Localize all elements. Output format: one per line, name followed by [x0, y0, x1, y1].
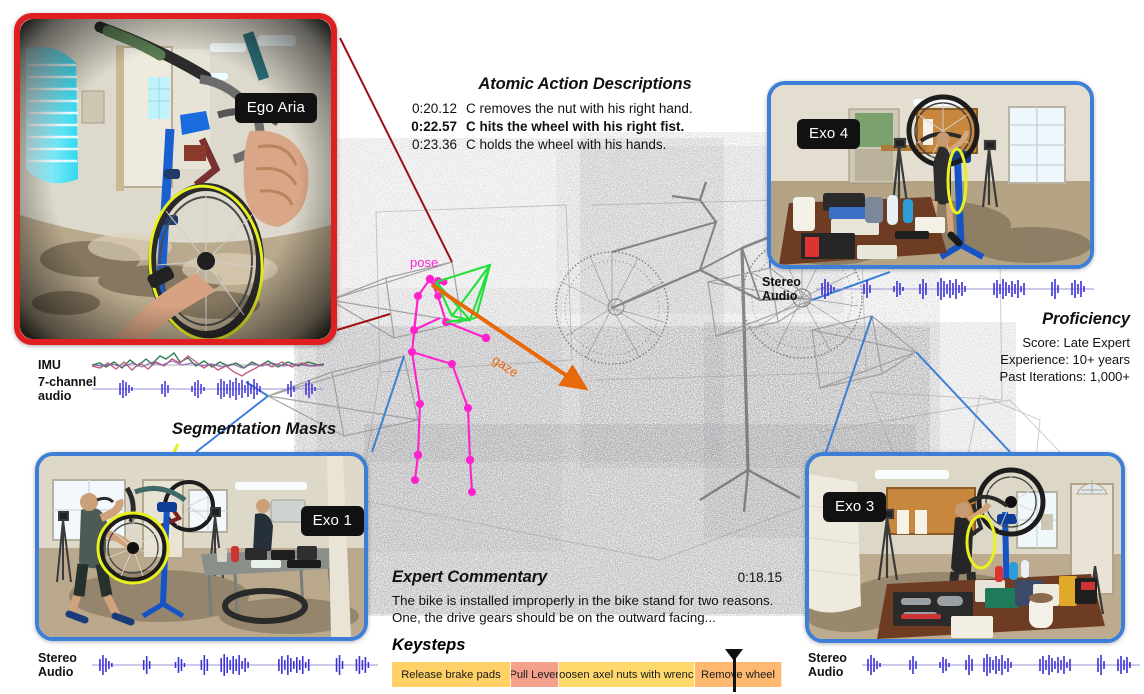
exo1-stereo-waveform — [92, 650, 378, 680]
imu-label: IMU — [38, 358, 92, 372]
atomic-action-text: C removes the nut with his right hand. — [466, 100, 693, 118]
proficiency-iterations: Past Iterations: 1,000+ — [1000, 368, 1130, 385]
camera-badge-ego-aria: Ego Aria — [235, 93, 317, 123]
expert-commentary-timestamp: 0:18.15 — [738, 570, 782, 585]
exo3-video-panel[interactable]: Exo 3 — [805, 452, 1125, 643]
atomic-action-time: 0:20.12 — [405, 100, 457, 118]
exo3-stereo-waveform — [862, 650, 1140, 680]
camera-badge-exo1: Exo 1 — [301, 506, 364, 536]
proficiency-title: Proficiency — [1000, 310, 1130, 329]
exo3-scene — [809, 456, 1121, 639]
exo3-frame — [809, 456, 1121, 639]
exo1-stereo-audio-row: Stereo Audio — [38, 648, 378, 682]
keysteps-timeline[interactable]: Release brake padsPull LeverLoosen axel … — [392, 662, 782, 687]
keystep-segment[interactable]: Pull Lever — [511, 662, 559, 687]
proficiency-score: Score: Late Expert — [1000, 334, 1130, 351]
stereo-audio-label-line2: Audio — [38, 665, 92, 679]
exo1-frame — [39, 456, 364, 637]
keysteps-playhead[interactable] — [733, 651, 736, 692]
camera-badge-exo3: Exo 3 — [823, 492, 886, 522]
stereo-audio-label-line2: Audio — [808, 665, 862, 679]
exo4-stereo-audio-row: Stereo Audio — [762, 272, 1102, 306]
proficiency-block: Proficiency Score: Late Expert Experienc… — [1000, 310, 1130, 385]
ego-audio-signal-row: 7-channel audio — [38, 372, 338, 406]
expert-commentary-title: Expert Commentary — [392, 568, 547, 587]
expert-commentary-block: Expert Commentary 0:18.15 The bike is in… — [392, 568, 787, 626]
stereo-audio-label-line1: Stereo — [38, 651, 92, 665]
atomic-action-row: 0:20.12 C removes the nut with his right… — [405, 100, 765, 118]
atomic-actions-title: Atomic Action Descriptions — [405, 75, 765, 94]
keystep-segment[interactable]: Remove wheel — [695, 662, 782, 687]
exo3-stereo-audio-row: Stereo Audio — [808, 648, 1144, 682]
figure-canvas: pose gaze — [0, 0, 1144, 694]
exo1-video-panel[interactable]: Exo 1 — [35, 452, 368, 641]
exo4-scene — [771, 85, 1090, 265]
ego-audio-label-line2: audio — [38, 389, 92, 403]
expert-commentary-line2: One, the drive gears should be on the ou… — [392, 609, 787, 626]
keysteps-title: Keysteps — [392, 636, 782, 655]
atomic-action-row: 0:23.36 C holds the wheel with his hands… — [405, 136, 765, 154]
expert-commentary-header: Expert Commentary 0:18.15 — [392, 568, 782, 587]
ego-audio-waveform — [92, 374, 324, 404]
exo4-video-panel[interactable]: Exo 4 — [767, 81, 1094, 269]
atomic-action-time: 0:23.36 — [405, 136, 457, 154]
atomic-action-row: 0:22.57 C hits the wheel with his right … — [405, 118, 765, 136]
keystep-segment[interactable]: Release brake pads — [392, 662, 511, 687]
stereo-audio-label-line1: Stereo — [762, 275, 816, 289]
expert-commentary-line1: The bike is installed improperly in the … — [392, 592, 787, 609]
pose-label: pose — [410, 255, 438, 270]
keystep-segment[interactable]: Loosen axel nuts with wrench — [559, 662, 696, 687]
keysteps-block: Keysteps Release brake padsPull LeverLoo… — [392, 636, 782, 687]
exo1-scene — [39, 456, 364, 637]
stereo-audio-label-line1: Stereo — [808, 651, 862, 665]
ego-aria-video-panel[interactable]: Ego Aria — [14, 13, 337, 345]
ego-aria-frame — [20, 19, 331, 339]
atomic-action-time: 0:22.57 — [405, 118, 457, 136]
exo4-frame — [771, 85, 1090, 265]
atomic-action-text: C holds the wheel with his hands. — [466, 136, 666, 154]
proficiency-experience: Experience: 10+ years — [1000, 351, 1130, 368]
camera-badge-exo4: Exo 4 — [797, 119, 860, 149]
stereo-audio-label-line2: Audio — [762, 289, 816, 303]
atomic-action-descriptions: Atomic Action Descriptions 0:20.12 C rem… — [405, 75, 765, 153]
ego-audio-label-line1: 7-channel — [38, 375, 92, 389]
atomic-action-text: C hits the wheel with his right fist. — [466, 118, 684, 136]
exo4-stereo-waveform — [816, 274, 1094, 304]
segmentation-masks-label: Segmentation Masks — [172, 420, 336, 439]
ego-aria-scene — [20, 19, 331, 339]
